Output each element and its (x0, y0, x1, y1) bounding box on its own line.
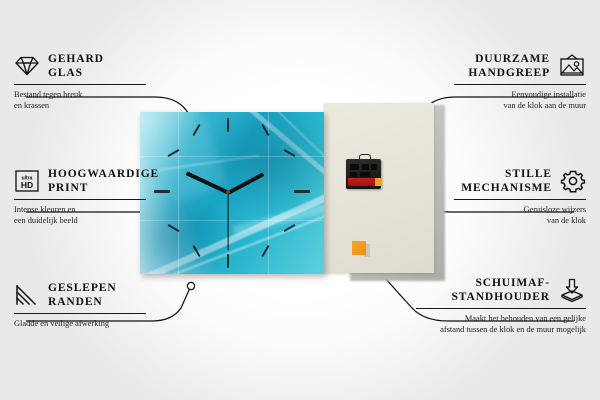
callout-header: DUURZAME HANDGREEP (454, 52, 586, 80)
callout-title-line1: GEHARD (48, 53, 104, 65)
callout-title-line2: GLAS (48, 67, 83, 79)
gear-icon (560, 169, 586, 193)
callout-header: STILLE MECHANISME (454, 167, 586, 195)
callout-stille-mechanisme[interactable]: STILLE MECHANISME Geruisloze wijzers van… (454, 167, 586, 226)
callout-title-line2: MECHANISME (461, 182, 552, 194)
callout-geslepen-randen[interactable]: GESLEPEN RANDEN Gladde en veilige afwerk… (14, 281, 146, 329)
callout-title: STILLE MECHANISME (461, 167, 552, 195)
callout-desc-line2: en krassen (14, 101, 49, 110)
callout-description: Geruisloze wijzers van de klok (454, 204, 586, 226)
clock-hand-second (227, 193, 228, 251)
callout-divider (454, 84, 586, 85)
callout-header: SCHUIMAF- STANDHOUDER (416, 276, 586, 304)
picture-frame-icon (558, 54, 586, 78)
connector-node (187, 282, 194, 289)
hour-tick-6 (227, 254, 229, 268)
callout-desc-line2: van de klok aan de muur (503, 101, 586, 110)
svg-text:HD: HD (21, 180, 33, 190)
ultra-hd-icon: ultra HD (14, 169, 40, 193)
callout-divider (454, 199, 586, 200)
callout-title-line2: RANDEN (48, 296, 103, 308)
callout-desc-line1: Geruisloze wijzers (523, 205, 586, 214)
foam-spacer-pad (352, 241, 366, 255)
callout-title: HOOGWAARDIGE PRINT (48, 167, 159, 195)
callout-desc-line1: Maakt het behouden van een gelijke (465, 314, 586, 323)
callout-description: Eenvoudige installatie van de klok aan d… (454, 89, 586, 111)
callout-desc-line2: van de klok (547, 216, 586, 225)
product-photo (135, 103, 445, 281)
callout-divider (14, 199, 146, 200)
callout-desc-line2: afstand tussen de klok en de muur mogeli… (440, 325, 586, 334)
callout-description: Maakt het behouden van een gelijke afsta… (416, 313, 586, 335)
callout-header: GESLEPEN RANDEN (14, 281, 146, 309)
callout-header: GEHARD GLAS (14, 52, 146, 80)
callout-divider (14, 313, 146, 314)
clock-face (140, 112, 324, 274)
clock-back-panel (324, 103, 434, 273)
callout-title: SCHUIMAF- STANDHOUDER (451, 276, 550, 304)
clock-mechanism-box (346, 159, 381, 189)
callout-title: DUURZAME HANDGREEP (468, 52, 550, 80)
callout-divider (14, 84, 146, 85)
callout-desc-line1: Intense kleuren en (14, 205, 75, 214)
callout-schuimafstandhouder[interactable]: SCHUIMAF- STANDHOUDER Maakt het behouden… (416, 276, 586, 335)
callout-title-line1: DUURZAME (475, 53, 550, 65)
callout-description: Gladde en veilige afwerking (14, 318, 146, 329)
callout-hoogwaardige-print[interactable]: ultra HD HOOGWAARDIGE PRINT Intense kleu… (14, 167, 146, 226)
callout-desc-line1: Bestand tegen breuk (14, 90, 82, 99)
callout-description: Intense kleuren en een duidelijk beeld (14, 204, 146, 226)
beveled-edges-icon (14, 284, 40, 306)
callout-title-line2: STANDHOUDER (451, 291, 550, 303)
infographic-canvas: GEHARD GLAS Bestand tegen breuk en krass… (0, 0, 600, 400)
mechanism-hanger-icon (359, 154, 371, 161)
callout-title-line1: GESLEPEN (48, 282, 117, 294)
hour-tick-12 (227, 118, 229, 132)
callout-title-line2: HANDGREEP (468, 67, 550, 79)
callout-desc-line2: een duidelijk beeld (14, 216, 78, 225)
callout-title: GESLEPEN RANDEN (48, 281, 117, 309)
callout-desc-line1: Eenvoudige installatie (511, 90, 586, 99)
hour-tick-3 (294, 190, 310, 193)
callout-title: GEHARD GLAS (48, 52, 104, 80)
callout-title-line1: HOOGWAARDIGE (48, 168, 159, 180)
callout-title-line1: STILLE (505, 168, 552, 180)
diamond-icon (14, 55, 40, 77)
callout-divider (416, 308, 586, 309)
callout-description: Bestand tegen breuk en krassen (14, 89, 146, 111)
callout-desc-line1: Gladde en veilige afwerking (14, 319, 109, 328)
callout-header: ultra HD HOOGWAARDIGE PRINT (14, 167, 146, 195)
callout-duurzame-handgreep[interactable]: DUURZAME HANDGREEP Eenvoudige installati… (454, 52, 586, 111)
callout-gehard-glas[interactable]: GEHARD GLAS Bestand tegen breuk en krass… (14, 52, 146, 111)
callout-title-line2: PRINT (48, 182, 88, 194)
battery-positive-tip (375, 178, 381, 186)
clock-center-cap (226, 190, 230, 194)
foam-spacer-icon (558, 278, 586, 302)
callout-title-line1: SCHUIMAF- (475, 277, 550, 289)
